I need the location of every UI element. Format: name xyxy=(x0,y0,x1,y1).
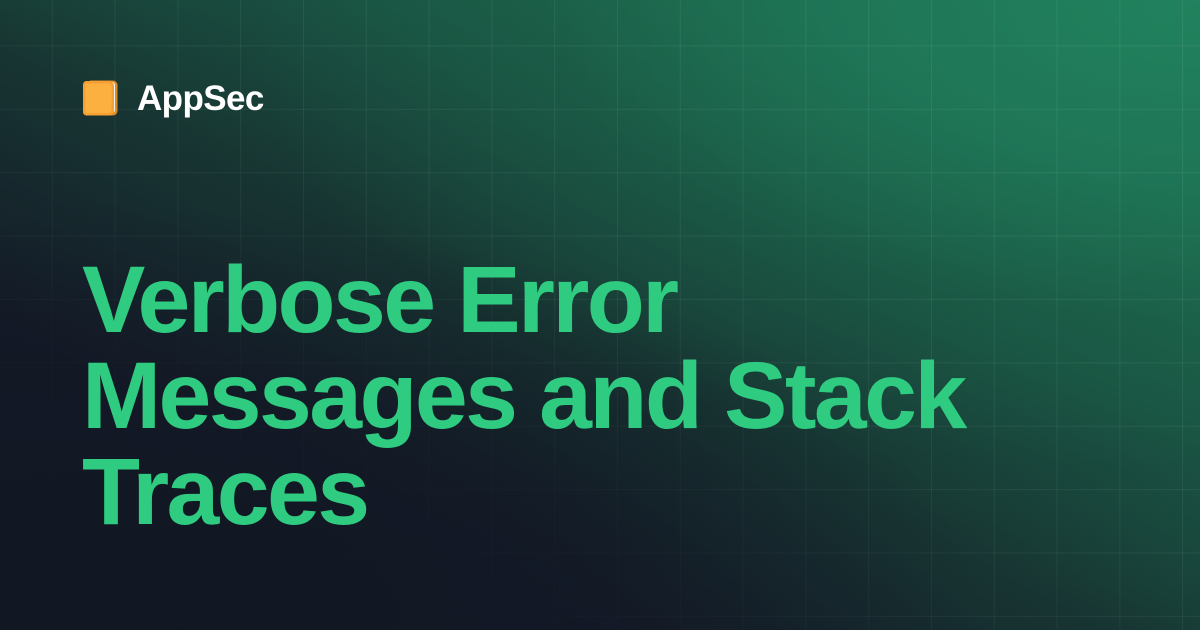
page-title: Verbose Error Messages and Stack Traces xyxy=(82,252,1082,540)
og-card: AppSec Verbose Error Messages and Stack … xyxy=(0,0,1200,630)
brand-name: AppSec xyxy=(137,81,264,116)
card-content: AppSec Verbose Error Messages and Stack … xyxy=(0,0,1200,630)
orange-book-icon xyxy=(80,76,120,120)
brand-lockup: AppSec xyxy=(80,74,264,122)
